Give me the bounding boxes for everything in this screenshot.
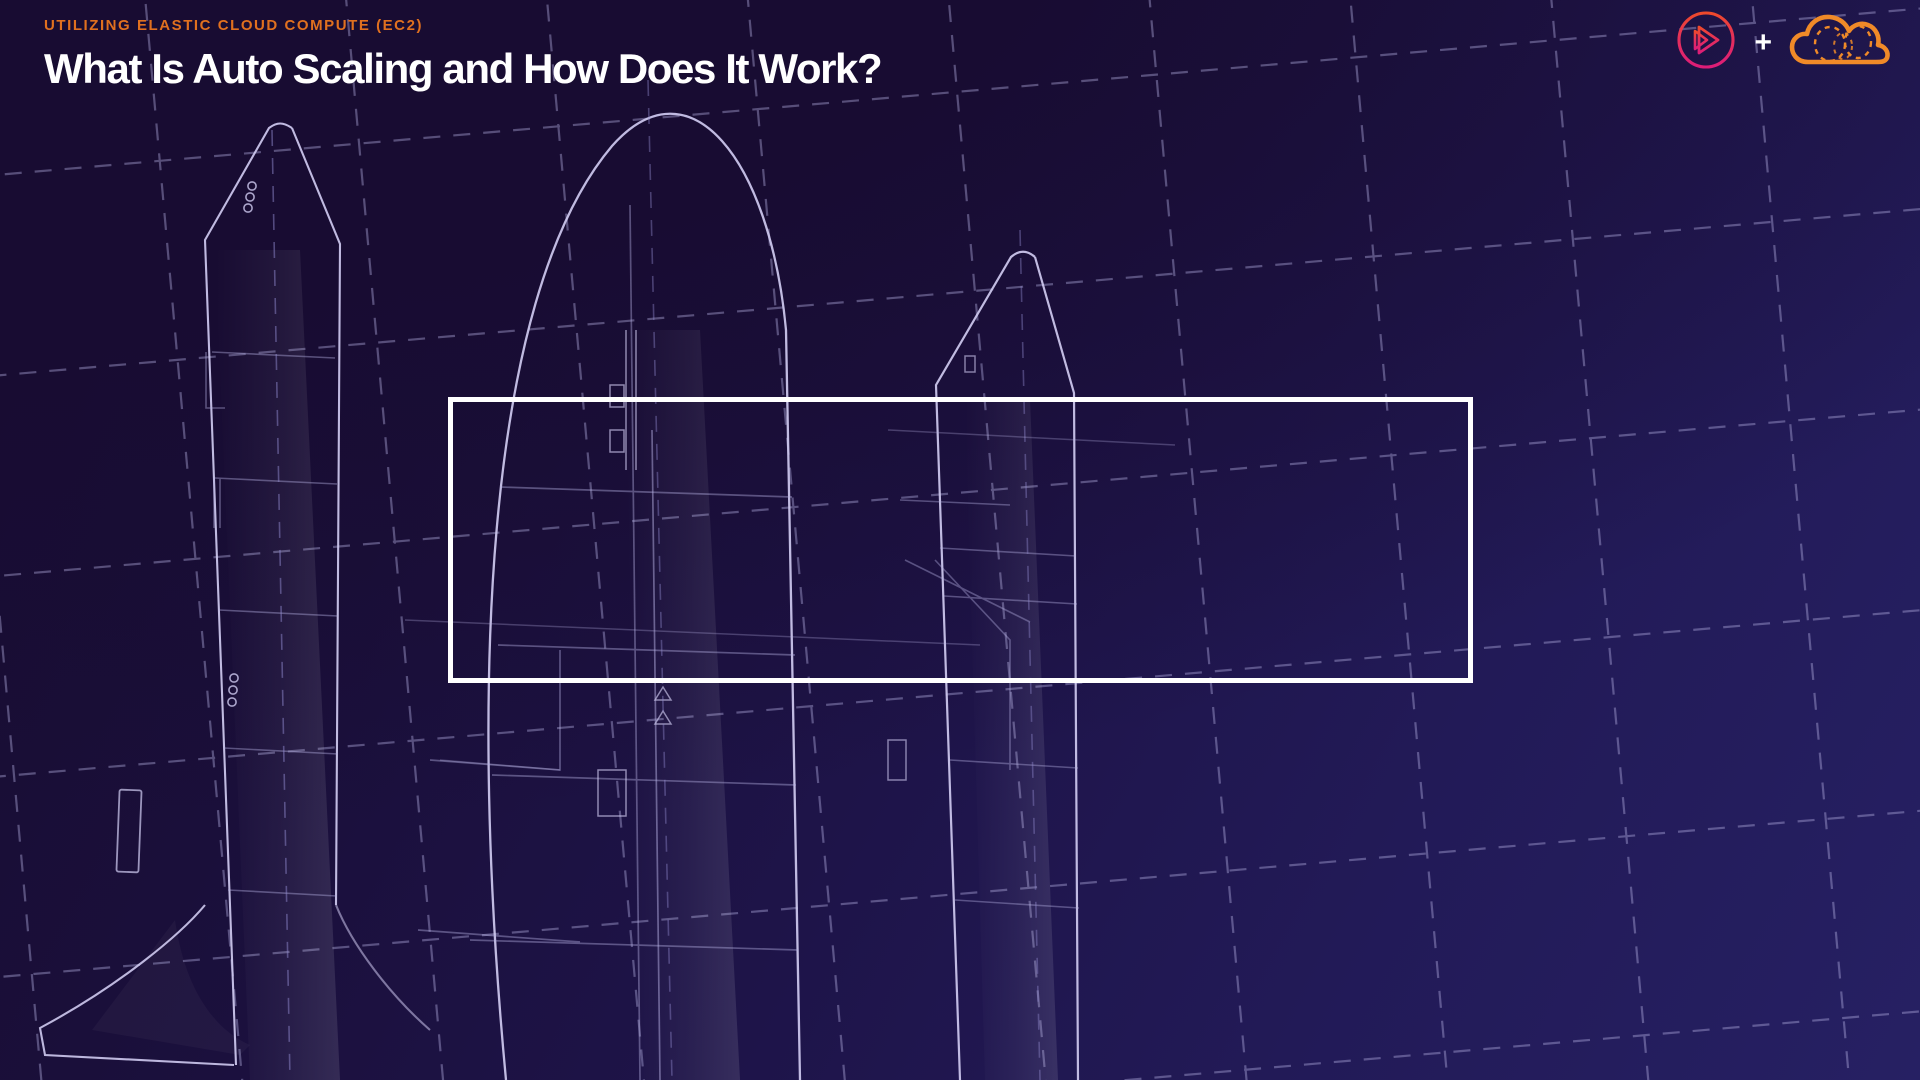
- play-circle-logo[interactable]: [1674, 8, 1738, 77]
- content-placeholder-frame[interactable]: [448, 397, 1473, 683]
- cloud-logo[interactable]: [1788, 8, 1892, 77]
- slide-canvas: UTILIZING ELASTIC CLOUD COMPUTE (EC2) Wh…: [0, 0, 1920, 1080]
- page-title: What Is Auto Scaling and How Does It Wor…: [44, 47, 881, 91]
- eyebrow-label: UTILIZING ELASTIC CLOUD COMPUTE (EC2): [44, 18, 881, 33]
- logo-lockup: +: [1674, 8, 1892, 77]
- plus-separator-icon: +: [1754, 28, 1772, 58]
- slide-header: UTILIZING ELASTIC CLOUD COMPUTE (EC2) Wh…: [44, 18, 881, 91]
- rocket-left: [40, 124, 430, 1080]
